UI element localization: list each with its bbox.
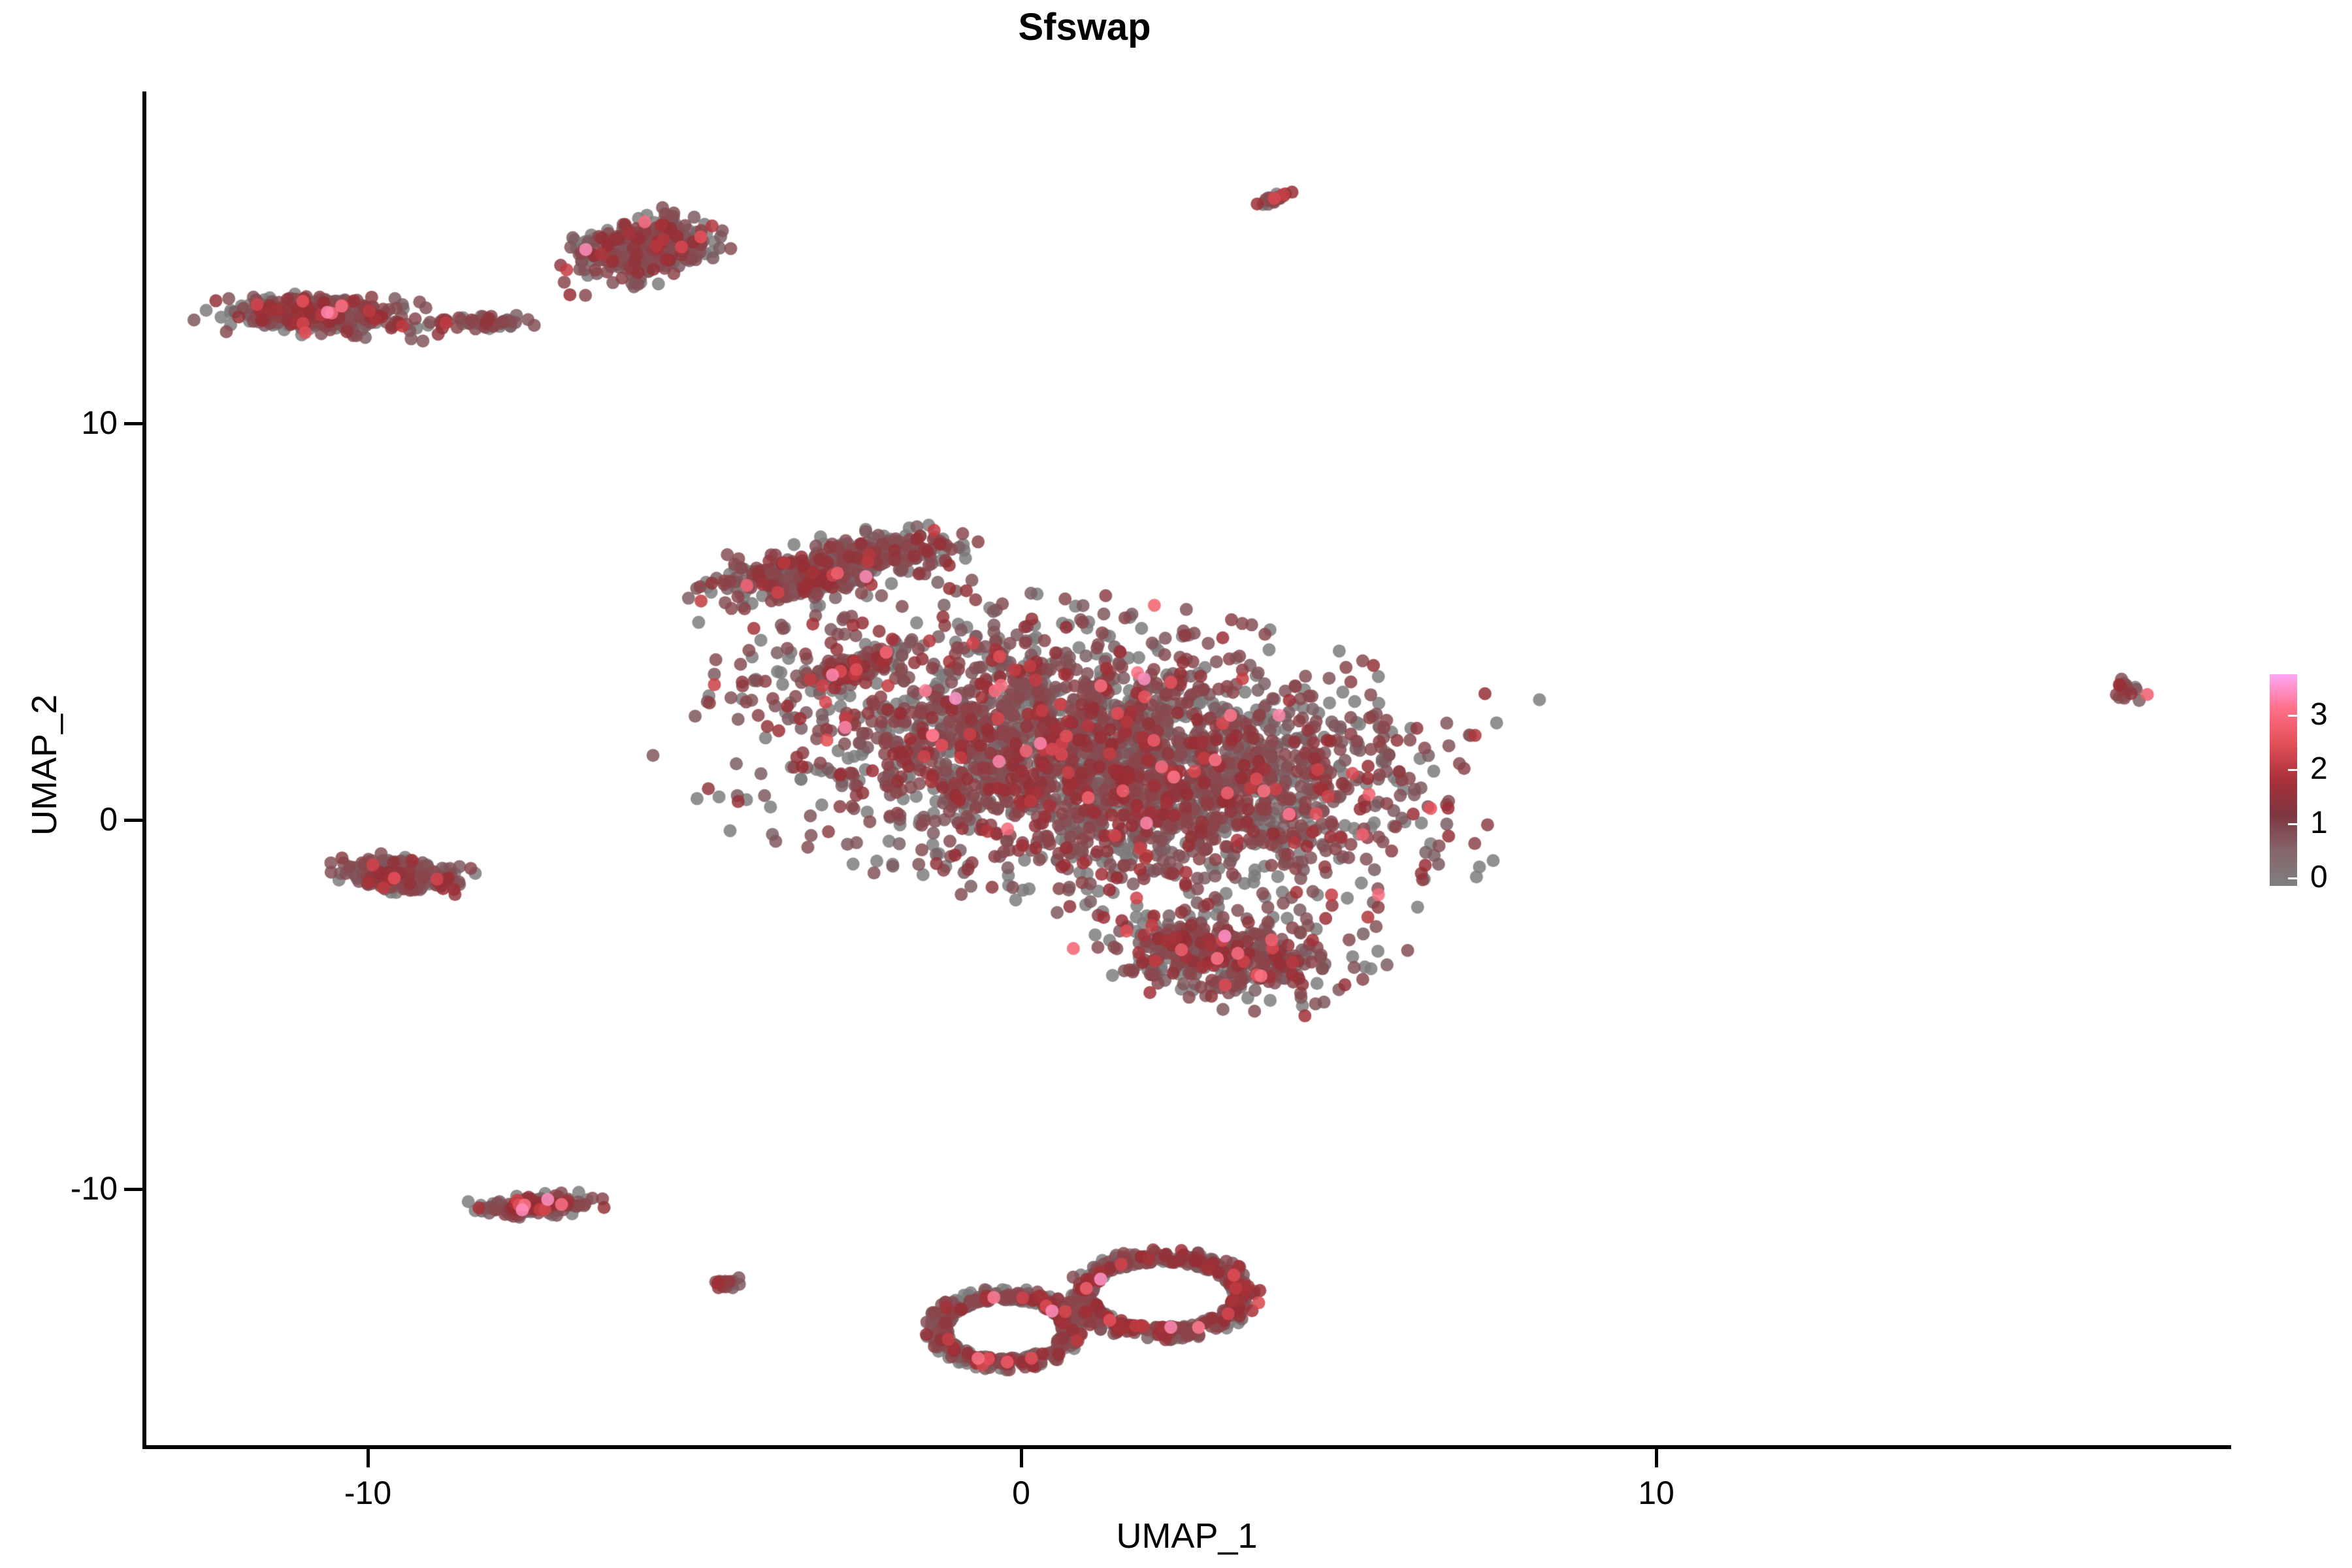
y-tick-label-neg10: -10 [71, 1169, 118, 1207]
y-tick-mark-neg10 [124, 1188, 142, 1191]
colorbar-tick-3 [2288, 715, 2297, 717]
y-tick-mark-0 [124, 819, 142, 822]
page-title: Sfswap [0, 5, 2169, 49]
x-tick-label-0: 0 [1012, 1474, 1030, 1512]
plot-panel [144, 91, 2231, 1447]
x-tick-mark-neg10 [367, 1449, 370, 1467]
x-axis-title: UMAP_1 [142, 1516, 2231, 1556]
umap-feature-plot: Sfswap 10 0 -10 -10 0 10 UMAP_1 UMAP_2 3… [0, 0, 2352, 1568]
legend-colorbar-group: 3 2 1 0 [2270, 674, 2348, 890]
y-tick-mark-10 [124, 422, 142, 425]
scatter-points-layer [144, 91, 2231, 1447]
colorbar-gradient [2270, 674, 2297, 886]
colorbar-tick-1 [2288, 823, 2297, 825]
y-axis-title: UMAP_2 [24, 569, 65, 961]
y-axis-line [142, 91, 146, 1447]
colorbar-label-0: 0 [2310, 862, 2328, 893]
x-tick-label-neg10: -10 [344, 1474, 391, 1512]
y-tick-label-0: 0 [99, 800, 118, 838]
x-axis-line [142, 1445, 2231, 1449]
colorbar-label-3: 3 [2310, 699, 2328, 730]
x-tick-mark-10 [1655, 1449, 1658, 1467]
colorbar-tick-0 [2288, 877, 2297, 879]
y-tick-label-10: 10 [81, 404, 118, 442]
x-tick-mark-0 [1020, 1449, 1023, 1467]
colorbar-tick-2 [2288, 769, 2297, 771]
colorbar-label-2: 2 [2310, 753, 2328, 785]
x-tick-label-10: 10 [1638, 1474, 1674, 1512]
colorbar-label-1: 1 [2310, 808, 2328, 839]
